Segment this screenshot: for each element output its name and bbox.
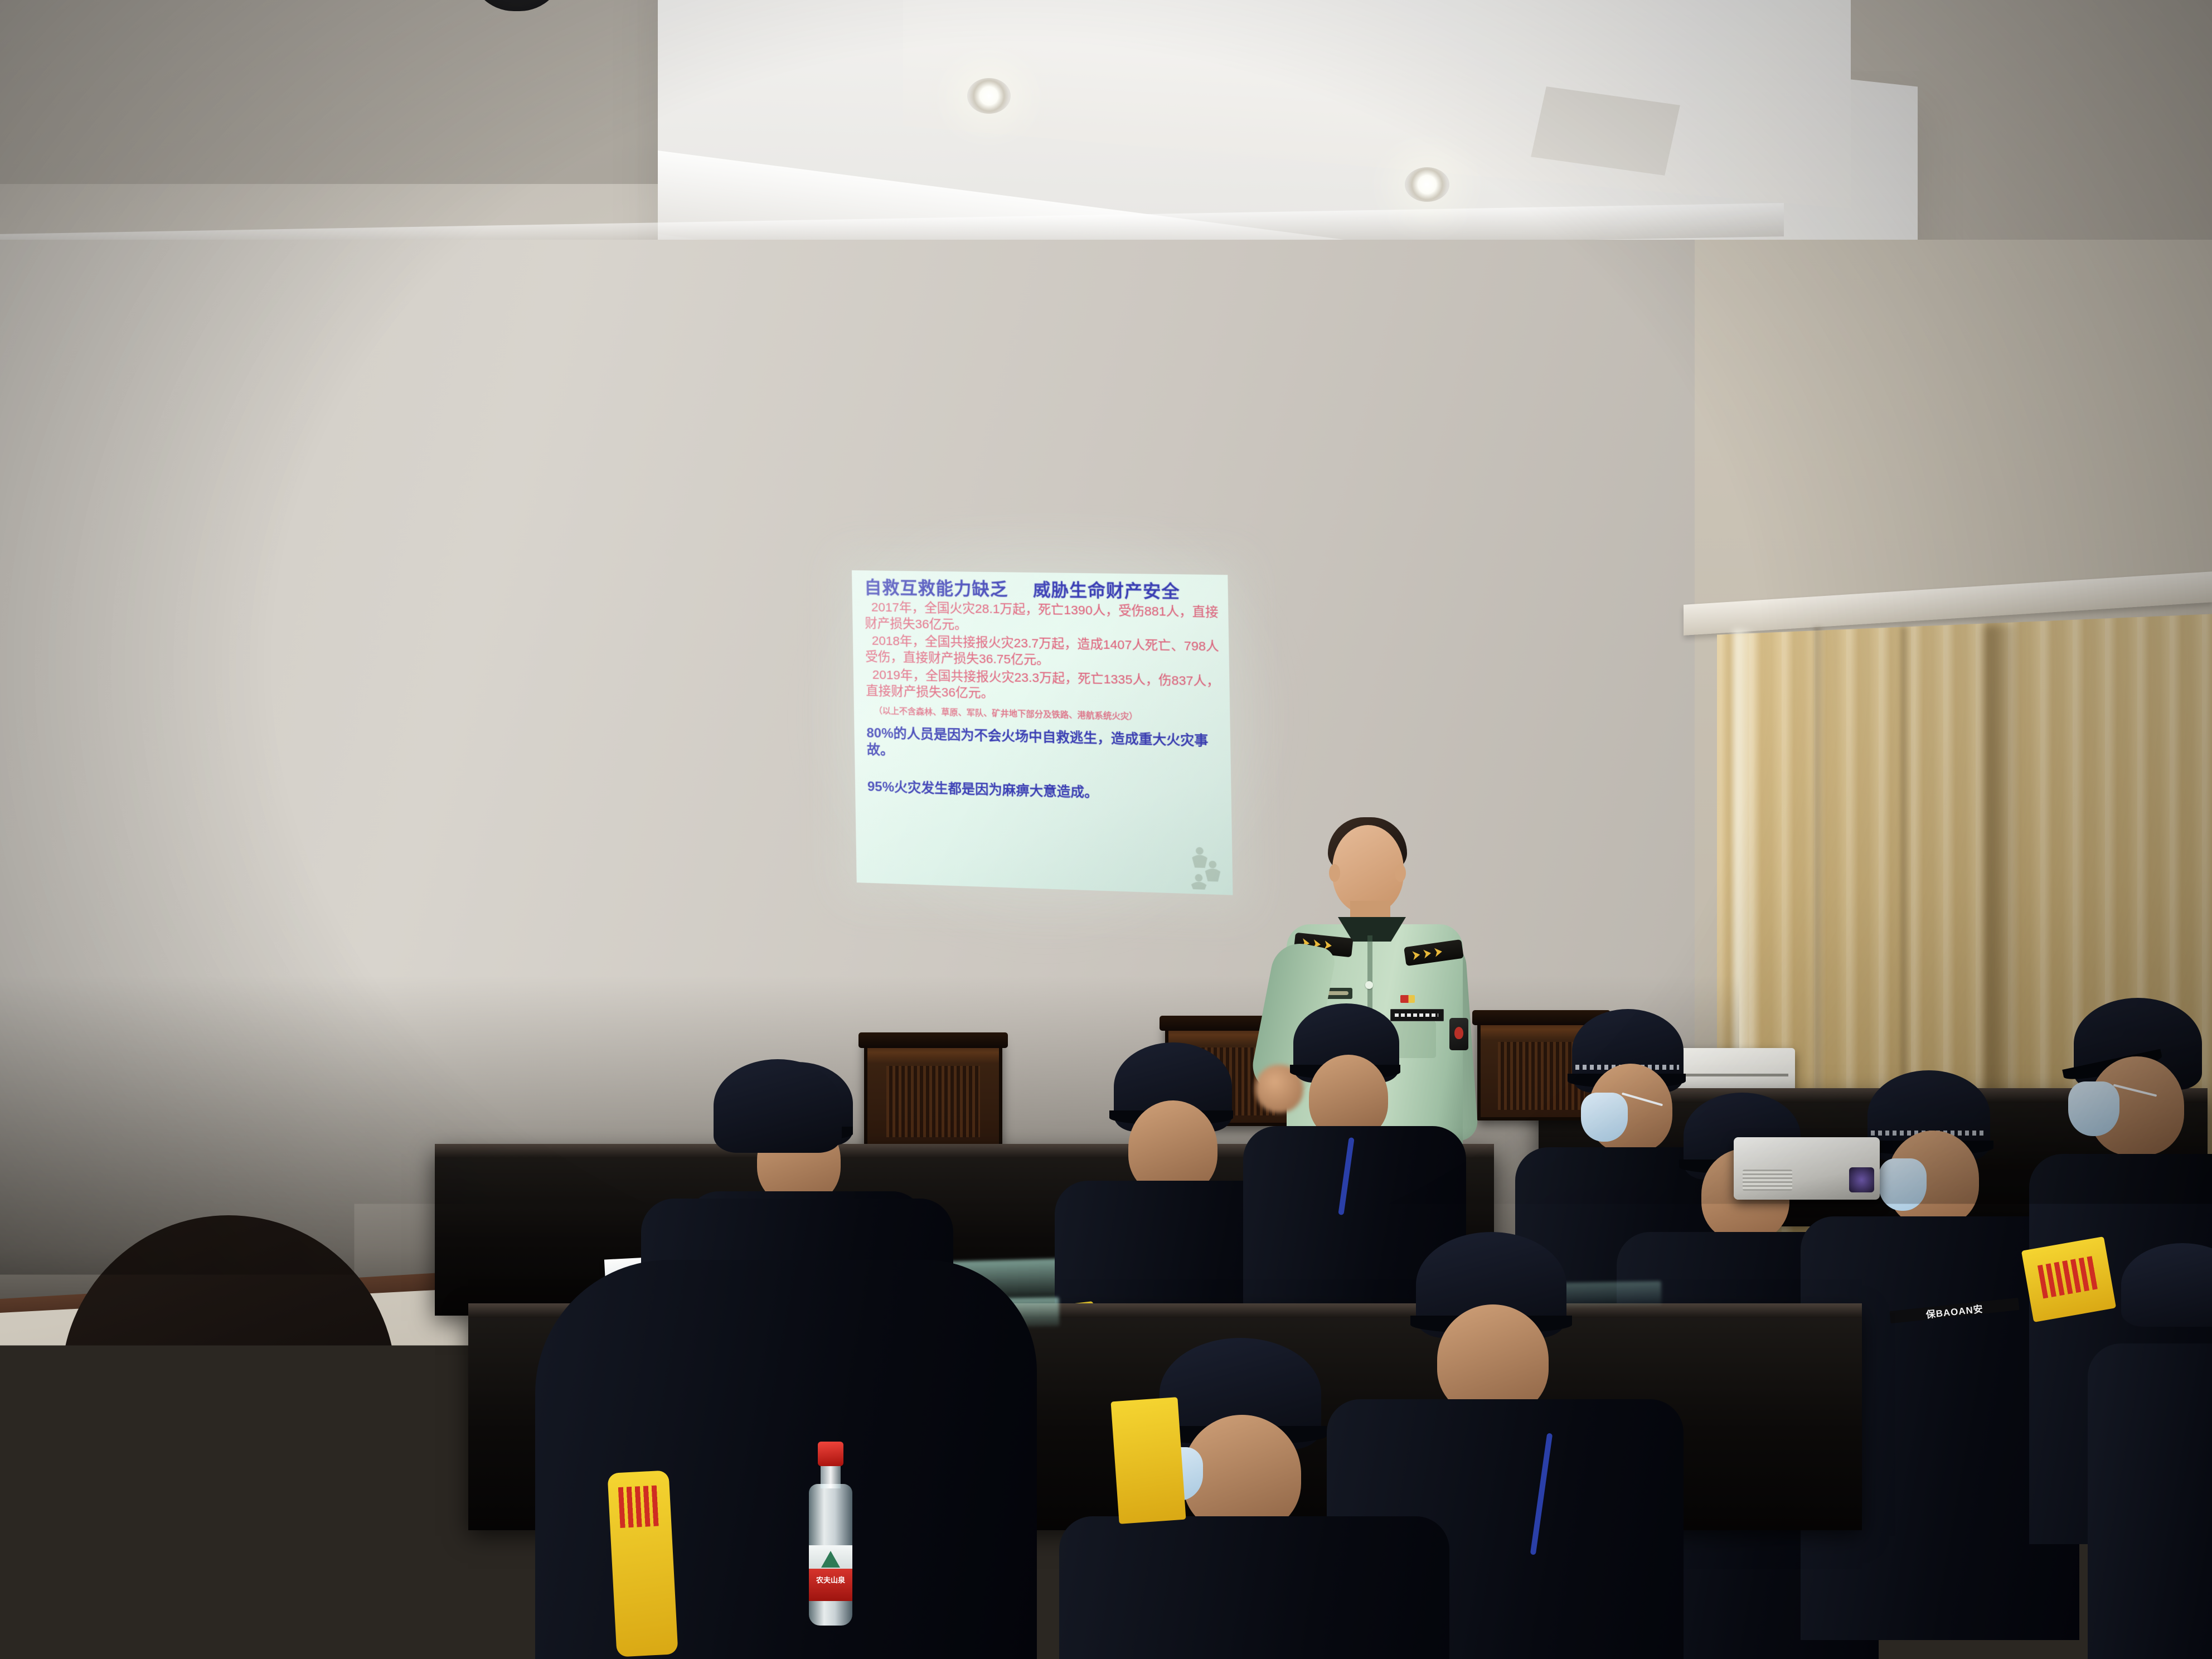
- slide-footnote: （以上不含森林、草原、军队、矿井地下部分及铁路、港航系统火灾）: [866, 705, 1222, 724]
- slide-highlight-80: 80%的人员是因为不会火场中自救逃生，造成重大火灾事故。: [866, 725, 1223, 768]
- slide-title-part1: 自救互救能力缺乏: [864, 578, 1008, 599]
- sleeve-patch: [1449, 1018, 1468, 1050]
- face-mask: [1879, 1158, 1927, 1211]
- recessed-downlight: [967, 78, 1011, 114]
- presenter-head: [1332, 825, 1404, 913]
- slide-watermark-icon: [1185, 845, 1224, 890]
- face-mask: [1581, 1093, 1628, 1142]
- chair-empty-left[interactable]: [864, 1037, 1002, 1148]
- slide-title-part2: 威胁生命财产安全: [1033, 580, 1180, 601]
- bottle-cap: [818, 1442, 843, 1466]
- slide-highlight-95: 95%火灾发生都是因为麻痹大意造成。: [867, 775, 1224, 805]
- uniform-cap: [714, 1059, 842, 1153]
- face-mask: [2068, 1081, 2119, 1136]
- yellow-armband: [2021, 1236, 2116, 1322]
- presenter-ear: [1329, 864, 1340, 882]
- slide-stat-2018: 2018年，全国共接报火灾23.7万起，造成1407人死亡、798人受伤，直接财…: [865, 633, 1221, 672]
- slide-content: 自救互救能力缺乏 威胁生命财产安全 2017年，全国火灾28.1万起，死亡139…: [852, 570, 1233, 895]
- flag-pin-icon: [1400, 995, 1415, 1003]
- projection-screen: 自救互救能力缺乏 威胁生命财产安全 2017年，全国火灾28.1万起，死亡139…: [852, 570, 1233, 895]
- slide-stat-2017: 2017年，全国火灾28.1万起，死亡1390人，受伤881人，直接财产损失36…: [865, 599, 1221, 637]
- presenter-ear: [1395, 864, 1406, 882]
- shirt-button: [1365, 981, 1373, 989]
- recessed-downlight: [1405, 167, 1449, 202]
- projector[interactable]: [1734, 1137, 1880, 1200]
- foreground-shadow: [184, 1472, 2212, 1659]
- slide-stat-2019: 2019年，全国共接报火灾23.3万起，死亡1335人，伤837人，直接财产损失…: [866, 666, 1222, 706]
- name-badge: [1390, 1009, 1444, 1021]
- lecture-room-photo: 自救互救能力缺乏 威胁生命财产安全 2017年，全国火灾28.1万起，死亡139…: [0, 0, 2212, 1659]
